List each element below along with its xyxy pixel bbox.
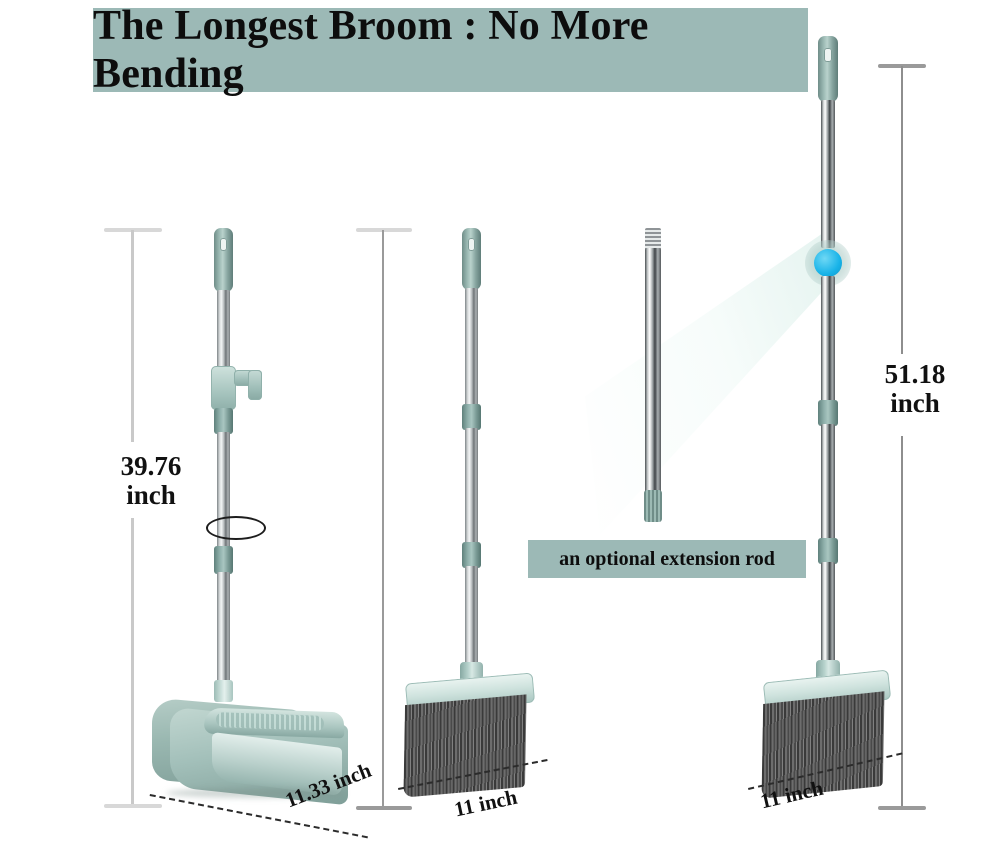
spotlight-cone [585, 205, 835, 535]
extension-rod-callout-text: an optional extension rod [559, 548, 775, 571]
broom-bristles [403, 694, 526, 797]
dimension-right-value: 51.18 [855, 360, 975, 389]
extended-broom-handle-hanging-hole [824, 48, 832, 62]
extension-rod-shaft [645, 248, 661, 494]
dimension-left-upper-line [131, 230, 134, 442]
broom-pole-middle [465, 428, 478, 544]
extended-broom-handle-grip [818, 36, 838, 102]
dimension-right-upper-line [901, 66, 903, 354]
dustpan-collar-lower [214, 546, 233, 574]
extended-broom-collar-lower [818, 538, 838, 564]
dimension-middle-top-tick [356, 228, 412, 232]
extended-broom-pole-lower [821, 562, 835, 672]
dimension-left-bottom-tick [104, 804, 162, 808]
dimension-left-label: 39.76 inch [86, 452, 216, 509]
extension-rod-callout-banner: an optional extension rod [528, 540, 806, 578]
title-text: The Longest Broom : No More Bending [93, 2, 808, 98]
dimension-right-bottom-tick [878, 806, 926, 810]
infographic-canvas: The Longest Broom : No More Bending 39.7… [0, 0, 1000, 860]
extension-rod-end-cap [644, 490, 662, 522]
dimension-middle-upper-line [382, 230, 384, 580]
dimension-left-lower-line [131, 518, 134, 806]
broom-collar-upper [462, 404, 481, 430]
extended-broom-pole-top [821, 100, 835, 248]
dimension-left-unit: inch [86, 481, 216, 510]
rotation-indicator-ellipse [206, 516, 266, 540]
dustpan-handle-hanging-hole [220, 238, 227, 251]
dimension-left-value: 39.76 [86, 452, 216, 481]
dimension-middle-lower-line [382, 580, 384, 808]
broom-pole-upper [465, 288, 478, 406]
extension-rod-threaded-top [645, 228, 661, 250]
dustpan-clip-body [211, 366, 236, 410]
extended-broom-collar-upper [818, 400, 838, 426]
dimension-middle-bottom-tick [356, 806, 412, 810]
dimension-right-label: 51.18 inch [855, 360, 975, 417]
dustpan-pole-lower [217, 572, 230, 688]
extended-broom-pole-middle [821, 424, 835, 540]
broom-handle-hanging-hole [468, 238, 475, 251]
broom-pole-lower [465, 566, 478, 670]
extended-broom-pole-upper [821, 276, 835, 404]
dustpan-collar-upper [214, 408, 233, 434]
connection-point-icon [814, 249, 842, 277]
title-banner: The Longest Broom : No More Bending [93, 8, 808, 92]
dimension-right-unit: inch [855, 389, 975, 418]
dustpan-clip-arm-side [248, 370, 262, 400]
broom-collar-lower [462, 542, 481, 568]
